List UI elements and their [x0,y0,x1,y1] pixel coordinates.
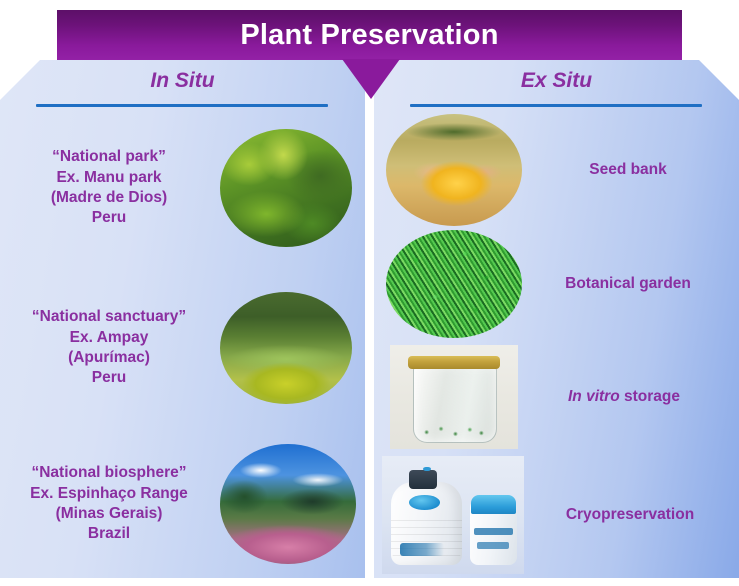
in-situ-label-1: “National park” Ex. Manu park (Madre de … [0,147,218,229]
in-situ-label-2: “National sanctuary” Ex. Ampay (Apurímac… [0,307,218,389]
panel-ex-situ: Ex Situ Seed bank Botanical garden In vi… [374,60,739,578]
label-line: “National park” [0,147,218,167]
corn-seeds-photo [386,114,522,226]
glass-jar-photo [390,345,518,449]
large-dewar-shape [391,482,462,565]
dewar-valve-knob-shape [423,467,430,472]
jar-lid-shape [408,356,500,368]
panel-in-situ: In Situ “National park” Ex. Manu park (M… [0,60,365,578]
panel-heading-in-situ: In Situ [0,70,365,91]
page-title: Plant Preservation [240,21,498,50]
cryo-tank-photo [382,456,524,574]
list-item: In vitro storage [374,342,739,452]
list-item: “National biosphere” Ex. Espinhaço Range… [0,434,365,574]
panel-divider-left [36,104,328,107]
ex-situ-label-in-vitro-storage: In vitro storage [518,387,730,407]
lagoon-photo [220,292,352,404]
in-vitro-italic-text: In vitro [568,388,620,405]
plant-preservation-infographic: Plant Preservation In Situ “National par… [0,0,739,586]
list-item: Botanical garden [374,228,739,340]
seedlings-photo [386,230,522,338]
dewar-logo-shape [400,543,444,556]
small-dewar-band-shape [474,528,513,535]
panel-heading-ex-situ: Ex Situ [374,70,739,91]
jar-plantlets-shape [418,422,490,439]
label-line: “National biosphere” [0,463,218,483]
rainforest-photo [220,129,352,247]
dewar-cap-shape [409,495,440,510]
ex-situ-label-cryopreservation: Cryopreservation [524,505,736,525]
label-line: Ex. Manu park [0,168,218,188]
label-line: Ex. Ampay [0,328,218,348]
label-line: Ex. Espinhaço Range [0,484,218,504]
label-line: (Apurímac) [0,348,218,368]
label-line: Brazil [0,524,218,544]
label-line: (Madre de Dios) [0,188,218,208]
label-line: Peru [0,208,218,228]
list-item: “National park” Ex. Manu park (Madre de … [0,118,365,258]
list-item: Cryopreservation [374,456,739,574]
small-dewar-shape [470,498,517,564]
list-item: Seed bank [374,112,739,228]
title-banner: Plant Preservation [57,10,682,60]
dewar-valve-shape [409,470,437,488]
ex-situ-label-botanical-garden: Botanical garden [522,274,734,294]
label-line: “National sanctuary” [0,307,218,327]
ex-situ-label-seed-bank: Seed bank [522,160,734,180]
mountain-flowers-photo [220,444,356,564]
label-line: (Minas Gerais) [0,504,218,524]
in-situ-label-3: “National biosphere” Ex. Espinhaço Range… [0,463,218,545]
storage-text: storage [624,388,680,405]
banner-down-arrow-icon [342,59,400,99]
list-item: “National sanctuary” Ex. Ampay (Apurímac… [0,278,365,418]
panel-divider-right [410,104,702,107]
small-dewar-lid-shape [471,495,516,515]
label-line: Peru [0,368,218,388]
small-dewar-band2-shape [477,542,510,549]
